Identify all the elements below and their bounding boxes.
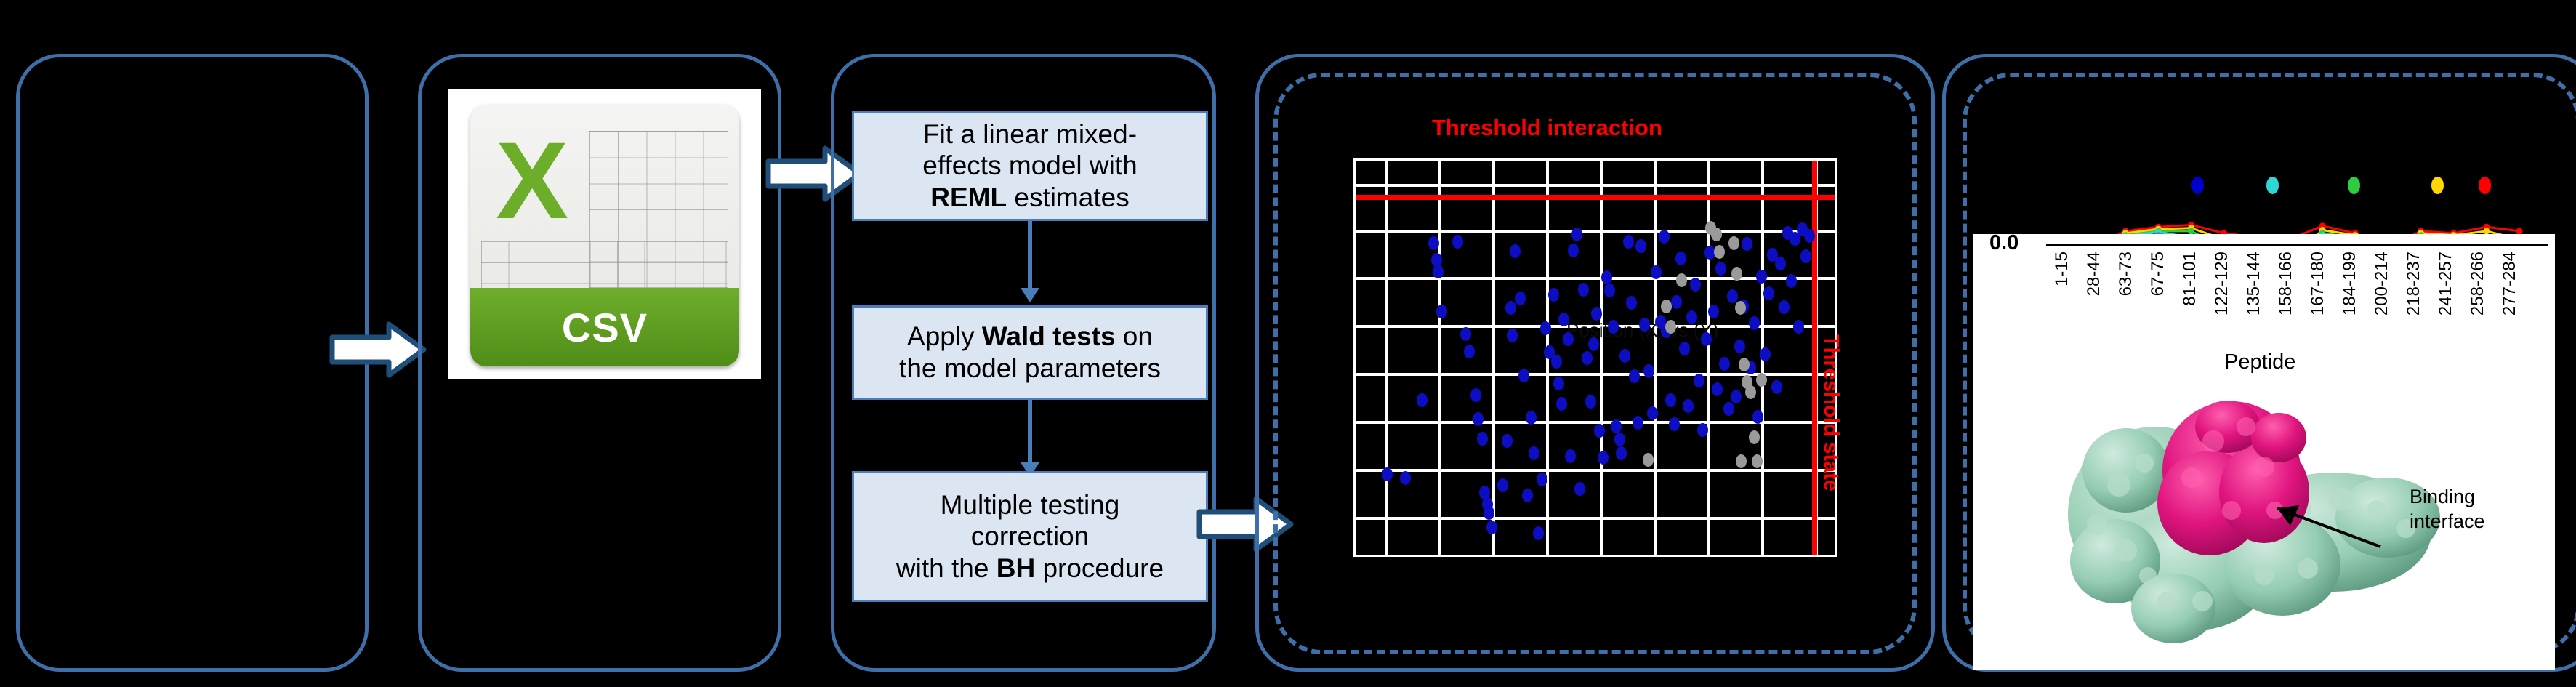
peptide-tick-label: 81-101 xyxy=(2180,252,2200,306)
scatter-point-significant xyxy=(1578,283,1589,297)
scatter-point-significant xyxy=(1556,397,1567,411)
scatter-point-non-significant xyxy=(1731,267,1742,281)
scatter-point-significant xyxy=(1417,393,1428,407)
connector-fit-to-wald xyxy=(852,221,1208,304)
scatter-point-significant xyxy=(1436,305,1447,318)
scatter-point-significant xyxy=(1614,433,1625,446)
scatter-point-significant xyxy=(1633,416,1643,430)
peptide-tick-label: 218-237 xyxy=(2404,252,2424,316)
wald-line-1c: on xyxy=(1116,321,1153,351)
peptide-tick-label: 277-284 xyxy=(2500,252,2520,316)
scatter-point-significant xyxy=(1452,235,1463,249)
scatter-point-significant xyxy=(1623,235,1634,249)
scatter-point-significant xyxy=(1460,327,1471,341)
threshold-interaction-label: Threshold interaction xyxy=(1432,115,1662,141)
scatter-point-significant xyxy=(1540,321,1551,335)
stage-1-panel xyxy=(16,54,369,672)
scatter-point-significant xyxy=(1518,369,1529,382)
scatter-point-significant xyxy=(1553,377,1564,390)
gridline-h xyxy=(1356,421,1835,424)
bh-line-3c: procedure xyxy=(1035,553,1164,583)
scatter-point-significant xyxy=(1585,395,1596,409)
gridline-v xyxy=(1385,161,1388,555)
scatter-point-significant xyxy=(1683,399,1694,413)
scatter-point-significant xyxy=(1591,307,1602,321)
multiple-testing-box-text: Multiple testing correction with the BH … xyxy=(890,489,1170,584)
scatter-point-significant xyxy=(1643,364,1654,378)
scatter-point-significant xyxy=(1571,228,1582,241)
scatter-point-significant xyxy=(1515,292,1526,305)
scatter-point-significant xyxy=(1756,270,1767,284)
scatter-point-non-significant xyxy=(1745,385,1756,399)
scatter-point-significant xyxy=(1533,526,1544,540)
x-axis-line xyxy=(2046,244,2548,246)
scatter-point-significant xyxy=(1786,274,1797,288)
scatter-point-significant xyxy=(1537,473,1547,486)
peptide-tick-label: 167-180 xyxy=(2308,252,2328,316)
csv-file-icon[interactable]: X CSV xyxy=(470,105,739,366)
threshold-state-label: Threshold state xyxy=(1819,334,1843,491)
scatter-point-significant xyxy=(1763,286,1774,300)
scatter-point-significant xyxy=(1647,406,1658,420)
wald-tests-box[interactable]: Apply Wald tests on the model parameters xyxy=(852,305,1208,400)
scatter-point-significant xyxy=(1464,345,1475,358)
scatter-point-significant xyxy=(1477,432,1488,446)
fit-model-line-1: Fit a linear mixed- xyxy=(923,119,1137,149)
scatter-point-significant xyxy=(1433,265,1444,278)
fit-model-line-2: effects model with xyxy=(922,150,1137,180)
figure-canvas: X CSV Fit a linear mixed- effects model … xyxy=(0,0,2576,687)
wald-line-1b: Wald tests xyxy=(982,321,1116,351)
scatter-point-non-significant xyxy=(1643,453,1654,467)
scatter-point-significant xyxy=(1712,382,1723,396)
bh-line-3b: BH xyxy=(997,553,1035,583)
scatter-point-non-significant xyxy=(1676,273,1687,287)
peptide-tick-label: 122-129 xyxy=(2212,252,2232,316)
scatter-point-significant xyxy=(1742,237,1752,251)
peptide-tick-label: 135-144 xyxy=(2244,252,2264,316)
scatter-point-non-significant xyxy=(1752,454,1763,468)
scatter-point-significant xyxy=(1793,320,1804,334)
scatter-point-non-significant xyxy=(1728,236,1739,250)
scatter-point-significant xyxy=(1679,342,1690,355)
scatter-point-non-significant xyxy=(1756,373,1767,387)
volcano-scatter: Threshold interaction Position (X) vs (Y… xyxy=(1301,95,1897,632)
scatter-point-significant xyxy=(1675,252,1686,265)
scatter-point-significant xyxy=(1626,296,1637,310)
peptide-tick-label: 28-44 xyxy=(2084,252,2104,296)
legend-dot-series-5 xyxy=(2479,177,2491,194)
scatter-point-significant xyxy=(1715,262,1726,276)
scatter-point-significant xyxy=(1522,489,1533,502)
scatter-point-significant xyxy=(1470,388,1481,402)
scatter-point-significant xyxy=(1779,300,1790,314)
peptide-tick-label: 63-73 xyxy=(2116,252,2136,296)
gridline-v xyxy=(1654,161,1657,555)
scatter-point-significant xyxy=(1502,434,1513,448)
gridline-h xyxy=(1356,184,1835,187)
binding-interface-line-2: interface xyxy=(2410,510,2485,532)
scatter-point-significant xyxy=(1598,451,1609,465)
scatter-point-significant xyxy=(1686,310,1697,324)
scatter-point-significant xyxy=(1507,329,1518,342)
scatter-point-significant xyxy=(1526,411,1537,425)
gridline-v xyxy=(1492,161,1495,555)
connector-wald-to-bh xyxy=(852,400,1208,478)
x-axis-title: Peptide xyxy=(2224,350,2295,374)
scatter-point-significant xyxy=(1510,244,1521,258)
peptide-tick-label: 184-199 xyxy=(2340,252,2360,316)
wald-tests-box-text: Apply Wald tests on the model parameters xyxy=(893,321,1167,384)
scatter-point-significant xyxy=(1734,340,1745,353)
scatter-point-significant xyxy=(1486,521,1497,534)
excel-x-glyph: X xyxy=(484,121,581,241)
gridline-h xyxy=(1356,230,1835,233)
wald-line-1a: Apply xyxy=(907,321,982,351)
csv-extension-label: CSV xyxy=(562,304,648,351)
scatter-point-non-significant xyxy=(1661,300,1672,313)
legend-dot-series-1 xyxy=(2191,177,2204,194)
scatter-point-significant xyxy=(1608,320,1619,334)
peptide-axis-and-structure-card: 0.0 1-1528-4463-7367-7581-101122-129135-… xyxy=(1973,234,2555,670)
scatter-point-significant xyxy=(1665,393,1676,407)
scatter-point-significant xyxy=(1771,380,1782,394)
scatter-point-non-significant xyxy=(1711,228,1722,241)
scatter-point-significant xyxy=(1619,349,1630,363)
scatter-point-significant xyxy=(1760,347,1771,361)
scatter-point-significant xyxy=(1428,236,1439,250)
gridline-v xyxy=(1438,161,1441,555)
scatter-point-significant xyxy=(1551,355,1562,369)
y-axis-tick-0: 0.0 xyxy=(1989,234,2018,255)
scatter-point-significant xyxy=(1635,239,1646,253)
legend-dot-series-4 xyxy=(2431,177,2444,194)
scatter-point-significant xyxy=(1800,249,1811,263)
scatter-point-significant xyxy=(1749,316,1760,330)
scatter-point-significant xyxy=(1690,278,1701,292)
scatter-point-significant xyxy=(1601,270,1612,284)
multiple-testing-box[interactable]: Multiple testing correction with the BH … xyxy=(852,471,1208,602)
bh-line-3a: with the xyxy=(896,553,997,583)
scatter-point-significant xyxy=(1719,357,1730,371)
fit-model-reml: REML xyxy=(930,182,1007,212)
scatter-point-significant xyxy=(1697,423,1708,437)
scatter-point-significant xyxy=(1629,369,1640,383)
gridline-h xyxy=(1356,469,1835,472)
scatter-plot-area: Position (X) vs (Y) xyxy=(1353,158,1837,557)
protein-surface-structure xyxy=(2046,383,2453,667)
peptide-line-chart: 0.0 1-1528-4463-7367-7581-101122-129135-… xyxy=(1963,73,2576,654)
scatter-point-significant xyxy=(1382,467,1393,481)
scatter-point-significant xyxy=(1484,506,1494,520)
peptide-tick-label: 258-266 xyxy=(2468,252,2488,316)
scatter-point-significant xyxy=(1568,244,1579,257)
scatter-point-significant xyxy=(1497,478,1508,492)
threshold-interaction-line xyxy=(1356,195,1835,200)
peptide-tick-label: 200-214 xyxy=(2372,252,2392,316)
scatter-point-significant xyxy=(1659,230,1670,244)
peptide-tick-label: 241-257 xyxy=(2436,252,2456,316)
scatter-point-significant xyxy=(1588,337,1599,351)
fit-model-box-text: Fit a linear mixed- effects model with R… xyxy=(917,118,1143,214)
scatter-point-significant xyxy=(1400,471,1411,485)
gridline-v xyxy=(1707,161,1710,555)
scatter-point-significant xyxy=(1473,412,1484,426)
scatter-point-significant xyxy=(1616,446,1627,460)
csv-card: X CSV xyxy=(448,89,761,379)
scatter-point-significant xyxy=(1548,288,1559,302)
arrow-into-stage-1 xyxy=(331,321,425,378)
scatter-point-significant xyxy=(1604,284,1615,297)
scatter-point-significant xyxy=(1505,301,1516,315)
scatter-point-non-significant xyxy=(1736,454,1747,468)
scatter-point-non-significant xyxy=(1665,320,1676,334)
scatter-point-non-significant xyxy=(1739,358,1750,371)
scatter-point-significant xyxy=(1594,424,1605,438)
legend-dot-series-2 xyxy=(2266,177,2279,194)
scatter-point-significant xyxy=(1775,257,1786,270)
binding-interface-label: Binding interface xyxy=(2410,485,2485,534)
scatter-point-significant xyxy=(1694,374,1704,387)
threshold-state-line xyxy=(1812,161,1817,555)
fit-model-line-3b: estimates xyxy=(1007,182,1130,212)
peptide-tick-label: 158-166 xyxy=(2276,252,2296,316)
scatter-point-significant xyxy=(1731,390,1742,403)
scatter-point-significant xyxy=(1563,332,1574,346)
scatter-point-non-significant xyxy=(1749,430,1760,444)
scatter-point-significant xyxy=(1669,417,1680,431)
legend-dot-series-3 xyxy=(2348,177,2360,194)
csv-extension-band: CSV xyxy=(470,288,739,366)
bh-line-1: Multiple testing xyxy=(941,490,1120,520)
scatter-point-non-significant xyxy=(1714,245,1725,259)
scatter-point-significant xyxy=(1727,289,1738,303)
bh-line-2: correction xyxy=(971,521,1089,551)
gridline-h xyxy=(1356,517,1835,520)
scatter-point-significant xyxy=(1529,446,1539,460)
peptide-tick-label: 67-75 xyxy=(2148,252,2168,296)
scatter-point-significant xyxy=(1671,295,1682,309)
scatter-point-significant xyxy=(1639,318,1650,332)
fit-model-box[interactable]: Fit a linear mixed- effects model with R… xyxy=(852,111,1208,221)
gridline-v xyxy=(1600,161,1603,555)
scatter-point-significant xyxy=(1558,313,1569,326)
binding-interface-line-1: Binding xyxy=(2410,486,2475,507)
scatter-point-significant xyxy=(1582,351,1593,365)
scatter-point-significant xyxy=(1723,402,1734,416)
scatter-point-significant xyxy=(1565,449,1576,463)
scatter-point-significant xyxy=(1611,419,1622,433)
csv-spreadsheet-grid-lower xyxy=(481,241,728,288)
wald-line-2: the model parameters xyxy=(899,353,1161,383)
scatter-point-significant xyxy=(1574,482,1585,496)
peptide-tick-label: 1-15 xyxy=(2052,252,2072,286)
scatter-point-significant xyxy=(1708,305,1719,318)
